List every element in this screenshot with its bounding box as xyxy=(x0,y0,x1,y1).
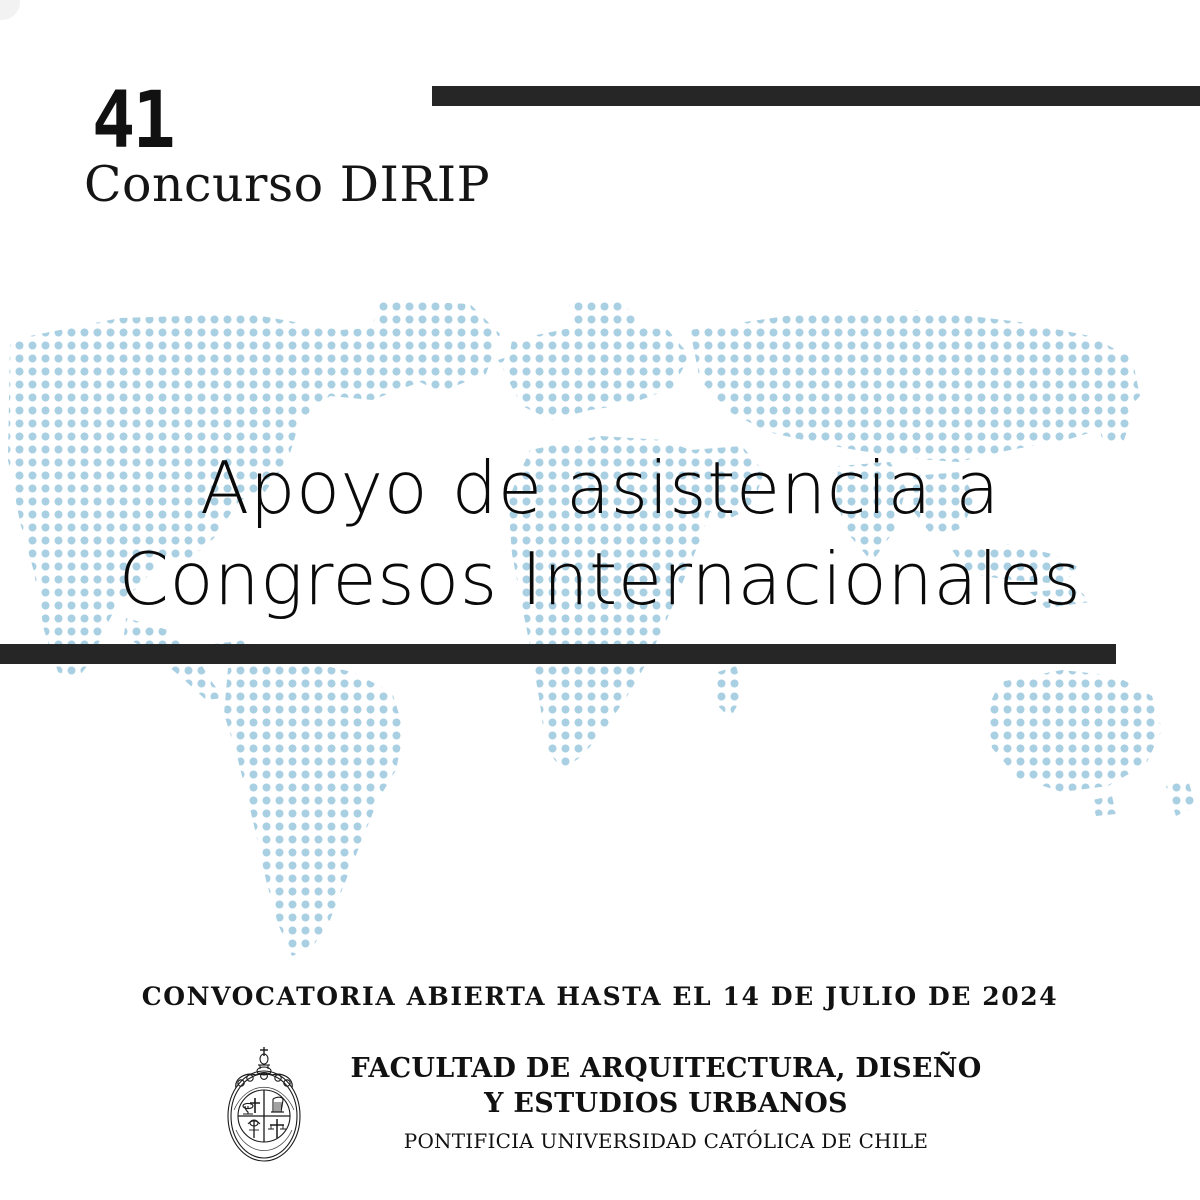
issue-number: 41 xyxy=(92,86,458,158)
page-title: Apoyo de asistencia a Congresos Internac… xyxy=(0,443,1200,626)
uc-crest-icon xyxy=(218,1044,310,1164)
title-line-1: Apoyo de asistencia a xyxy=(0,443,1200,534)
dotted-world-map xyxy=(0,300,1200,960)
mid-accent-bar xyxy=(0,644,1116,664)
faculty-line-1: FACULTAD DE ARQUITECTURA, DISEÑO xyxy=(350,1052,981,1087)
contest-name: Concurso DIRIP xyxy=(84,160,490,209)
header-block: 41 Concurso DIRIP xyxy=(84,86,490,209)
title-line-2: Congresos Internacionales xyxy=(0,534,1200,625)
faculty-text-block: FACULTAD DE ARQUITECTURA, DISEÑO Y ESTUD… xyxy=(350,1052,981,1155)
deadline-text: CONVOCATORIA ABIERTA HASTA EL 14 DE JULI… xyxy=(0,982,1200,1011)
footer-block: FACULTAD DE ARQUITECTURA, DISEÑO Y ESTUD… xyxy=(0,1044,1200,1164)
faculty-line-3: PONTIFICIA UNIVERSIDAD CATÓLICA DE CHILE xyxy=(350,1126,981,1156)
corner-shade xyxy=(0,0,20,20)
top-accent-bar xyxy=(432,86,1200,106)
poster-canvas: 41 Concurso DIRIP Apoyo de asistencia a … xyxy=(0,0,1200,1200)
faculty-line-2: Y ESTUDIOS URBANOS xyxy=(350,1087,981,1122)
